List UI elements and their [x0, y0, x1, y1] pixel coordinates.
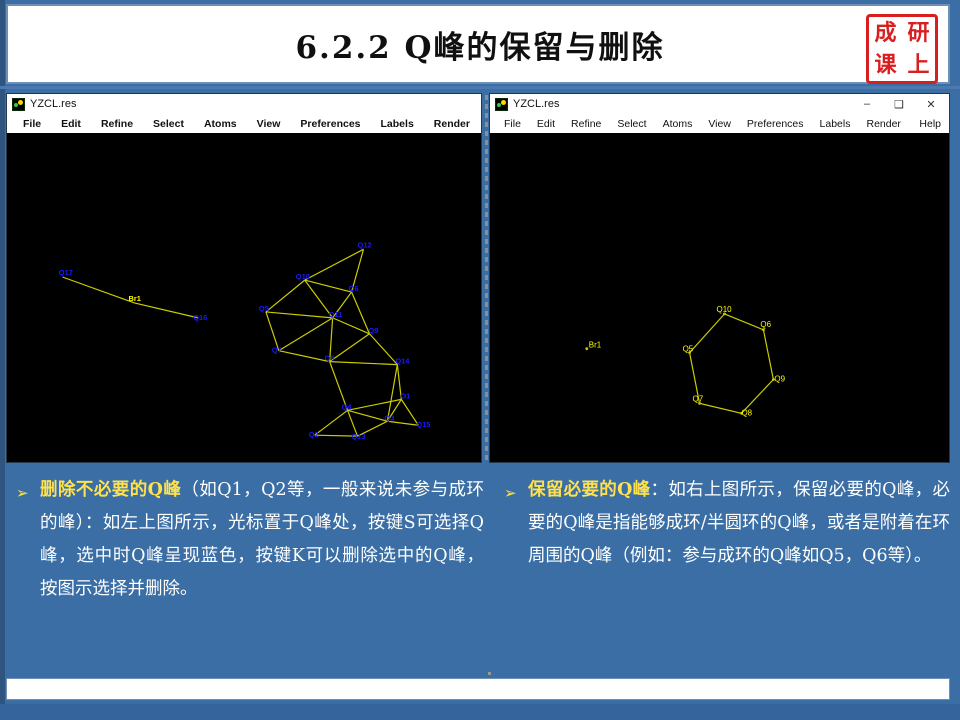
svg-text:Q10: Q10 — [717, 305, 733, 314]
svg-text:Q14: Q14 — [395, 357, 410, 366]
svg-text:Br1: Br1 — [128, 294, 140, 303]
maximize-icon[interactable]: ❑ — [883, 94, 915, 114]
left-window-titlebar[interactable]: YZCL.res — [7, 94, 481, 114]
window-splitter[interactable] — [485, 95, 488, 461]
bullet-arrow-icon: ➢ — [504, 477, 517, 510]
note-left-lead: 删除不必要的Q峰 — [40, 480, 181, 500]
slide-root: 6.2.2 Q峰的保留与删除 成 研 课 上 YZCL.res File Edi… — [0, 0, 960, 720]
menu-item-atoms[interactable]: Atoms — [194, 118, 247, 130]
svg-text:Q16: Q16 — [193, 313, 207, 322]
svg-text:Q9: Q9 — [774, 375, 785, 384]
note-left: ➢ 删除不必要的Q峰（如Q1，Q2等，一般来说未参与成环的峰）：如左上图所示，光… — [10, 474, 488, 678]
shelxle-app-icon — [12, 98, 25, 111]
svg-text:Q5: Q5 — [259, 304, 269, 313]
title-box: 6.2.2 Q峰的保留与删除 成 研 课 上 — [6, 4, 950, 84]
seal-char-2: 研 — [902, 17, 935, 49]
left-structure-svg: Q17 Br1 Q16 Q12 Q10 Q6 Q5 Q11 Q9 Q7 Q8 Q… — [7, 133, 481, 462]
svg-text:Q10: Q10 — [296, 272, 310, 281]
menu-item-preferences[interactable]: Preferences — [290, 118, 370, 130]
svg-text:Q9: Q9 — [368, 326, 378, 335]
note-right: ➢ 保留必要的Q峰：如右上图所示，保留必要的Q峰，必要的Q峰是指能够成环/半圆环… — [498, 474, 950, 678]
bullet-arrow-icon: ➢ — [16, 477, 29, 510]
note-right-lead: 保留必要的Q峰 — [528, 480, 651, 500]
svg-text:Q4: Q4 — [342, 402, 353, 411]
page-title: 6.2.2 Q峰的保留与删除 — [8, 6, 952, 82]
svg-text:Q7: Q7 — [693, 394, 704, 403]
left-bonds — [63, 249, 419, 436]
right-window-title: YZCL.res — [513, 98, 559, 110]
menu-item-help[interactable]: Help — [919, 118, 949, 130]
window-controls: – ❑ ✕ — [851, 94, 947, 114]
menu-item-edit[interactable]: Edit — [529, 118, 563, 130]
right-window-titlebar[interactable]: YZCL.res – ❑ ✕ — [490, 94, 949, 114]
menu-item-refine[interactable]: Refine — [563, 118, 609, 130]
left-menu-bar: File Edit Refine Select Atoms View Prefe… — [7, 114, 481, 133]
right-app-window: YZCL.res – ❑ ✕ File Edit Refine Select A… — [489, 93, 950, 463]
seal-char-4: 上 — [902, 49, 935, 81]
right-menu-bar: File Edit Refine Select Atoms View Prefe… — [490, 114, 949, 133]
svg-text:Q2: Q2 — [309, 430, 319, 439]
menu-item-view[interactable]: View — [700, 118, 739, 130]
menu-item-preferences[interactable]: Preferences — [739, 118, 812, 130]
svg-text:Q7: Q7 — [272, 346, 282, 355]
close-icon[interactable]: ✕ — [915, 94, 947, 114]
menu-item-select[interactable]: Select — [143, 118, 194, 130]
title-divider — [0, 86, 960, 89]
svg-text:Q6: Q6 — [760, 320, 771, 329]
menu-item-render[interactable]: Render — [858, 118, 908, 130]
menu-item-file[interactable]: File — [13, 118, 51, 130]
menu-item-render[interactable]: Render — [424, 118, 480, 130]
svg-text:Q5: Q5 — [683, 345, 694, 354]
seal-char-1: 成 — [869, 17, 902, 49]
right-atom-labels: Br1 Q10 Q6 Q9 Q8 Q7 Q5 — [589, 305, 786, 417]
svg-text:O1: O1 — [400, 391, 410, 400]
menu-item-refine[interactable]: Refine — [91, 118, 143, 130]
menu-item-view[interactable]: View — [247, 118, 291, 130]
svg-text:Q3: Q3 — [384, 413, 394, 422]
seal-stamp-icon: 成 研 课 上 — [866, 14, 938, 84]
menu-item-labels[interactable]: Labels — [371, 118, 424, 130]
svg-text:Q8: Q8 — [325, 354, 335, 363]
menu-item-file[interactable]: File — [496, 118, 529, 130]
menu-item-select[interactable]: Select — [609, 118, 654, 130]
right-atom-dots — [585, 313, 774, 415]
right-structure-svg: Br1 Q10 Q6 Q9 Q8 Q7 Q5 — [490, 133, 949, 462]
svg-text:Q15: Q15 — [416, 420, 430, 429]
slide-left-edge — [0, 0, 5, 720]
left-app-window: YZCL.res File Edit Refine Select Atoms V… — [6, 93, 482, 463]
note-left-paragraph: 删除不必要的Q峰（如Q1，Q2等，一般来说未参与成环的峰）：如左上图所示，光标置… — [10, 474, 484, 606]
svg-text:Q13: Q13 — [352, 432, 366, 441]
menu-item-atoms[interactable]: Atoms — [655, 118, 701, 130]
menu-item-edit[interactable]: Edit — [51, 118, 91, 130]
left-atom-labels: Q17 Br1 Q16 Q12 Q10 Q6 Q5 Q11 Q9 Q7 Q8 Q… — [59, 240, 431, 441]
left-window-title: YZCL.res — [30, 98, 76, 110]
bottom-white-strip — [6, 678, 950, 700]
svg-text:Br1: Br1 — [589, 341, 602, 350]
svg-text:Q6: Q6 — [349, 284, 359, 293]
svg-text:Q17: Q17 — [59, 268, 73, 277]
seal-char-3: 课 — [869, 49, 902, 81]
note-right-paragraph: 保留必要的Q峰：如右上图所示，保留必要的Q峰，必要的Q峰是指能够成环/半圆环的Q… — [498, 474, 950, 573]
svg-text:Q8: Q8 — [741, 408, 752, 417]
minimize-icon[interactable]: – — [851, 94, 883, 114]
left-molecule-canvas[interactable]: Q17 Br1 Q16 Q12 Q10 Q6 Q5 Q11 Q9 Q7 Q8 Q… — [7, 133, 481, 462]
svg-text:Q12: Q12 — [358, 240, 372, 249]
menu-item-labels[interactable]: Labels — [812, 118, 859, 130]
right-molecule-canvas[interactable]: Br1 Q10 Q6 Q9 Q8 Q7 Q5 — [490, 133, 949, 462]
shelxle-app-icon — [495, 98, 508, 111]
bottom-bar — [0, 704, 960, 720]
svg-text:Q11: Q11 — [329, 310, 343, 319]
